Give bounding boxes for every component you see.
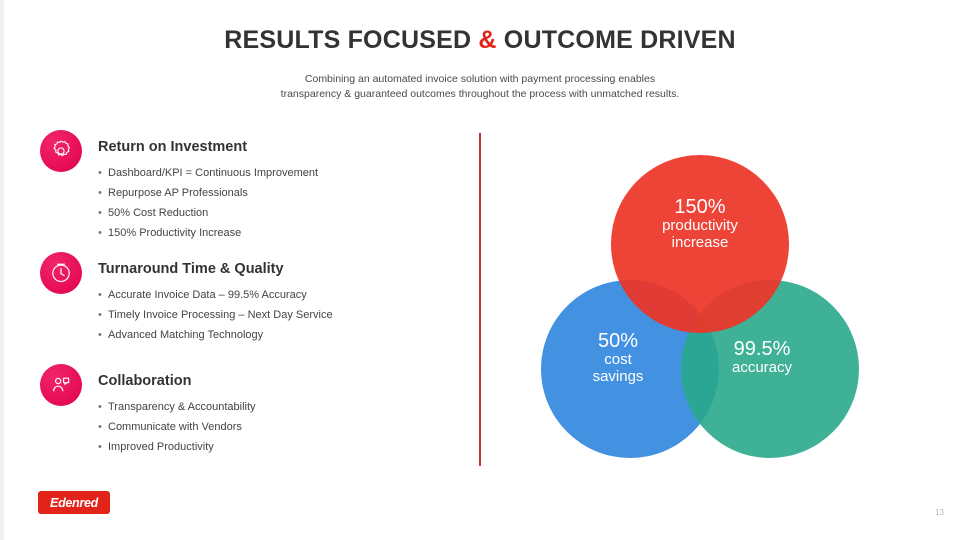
bullet-item: •Improved Productivity — [98, 437, 256, 457]
subtitle: Combining an automated invoice solution … — [180, 72, 780, 102]
bullet-text: Dashboard/KPI = Continuous Improvement — [108, 167, 318, 179]
bullet-item: •Dashboard/KPI = Continuous Improvement — [98, 163, 318, 183]
section-heading: Turnaround Time & Quality — [98, 261, 284, 277]
venn-value: 50% — [556, 330, 680, 352]
bullet-item: •50% Cost Reduction — [98, 203, 318, 223]
venn-label-productivity: 150% productivity increase — [638, 196, 762, 252]
bullet-dot: • — [98, 397, 108, 417]
bullet-dot: • — [98, 203, 108, 223]
subtitle-line-1: Combining an automated invoice solution … — [180, 72, 780, 87]
venn-value: 99.5% — [700, 338, 824, 360]
venn-caption-line-1: cost — [556, 352, 680, 369]
section-heading: Return on Investment — [98, 139, 247, 155]
bullet-dot: • — [98, 183, 108, 203]
bullet-text: Improved Productivity — [108, 441, 214, 453]
title-part-2: OUTCOME DRIVEN — [504, 26, 736, 54]
venn-caption-line-2: increase — [638, 235, 762, 252]
bullet-text: Advanced Matching Technology — [108, 329, 263, 341]
page-number: 13 — [935, 508, 944, 517]
bullet-text: Repurpose AP Professionals — [108, 187, 248, 199]
bullet-item: •Timely Invoice Processing – Next Day Se… — [98, 305, 333, 325]
section-turnaround-time-quality: Turnaround Time & Quality •Accurate Invo… — [40, 252, 460, 352]
clock-icon — [40, 252, 82, 294]
bullet-dot: • — [98, 223, 108, 243]
left-edge-bar — [0, 0, 7, 540]
page-title: RESULTS FOCUSED & OUTCOME DRIVEN — [0, 26, 960, 55]
section-bullets: •Transparency & Accountability •Communic… — [98, 397, 256, 457]
section-heading: Collaboration — [98, 373, 191, 389]
bullet-text: Transparency & Accountability — [108, 401, 256, 413]
venn-value: 150% — [638, 196, 762, 218]
venn-caption-line-1: accuracy — [700, 360, 824, 377]
bullet-text: Timely Invoice Processing – Next Day Ser… — [108, 309, 333, 321]
bullet-item: •Repurpose AP Professionals — [98, 183, 318, 203]
bullet-item: •150% Productivity Increase — [98, 223, 318, 243]
logo-text: Edenred — [50, 496, 98, 510]
bullet-dot: • — [98, 417, 108, 437]
bullet-dot: • — [98, 305, 108, 325]
venn-caption-line-1: productivity — [638, 218, 762, 235]
section-collaboration: Collaboration •Transparency & Accountabi… — [40, 364, 460, 464]
title-part-1: RESULTS FOCUSED — [224, 26, 471, 54]
bullet-item: •Transparency & Accountability — [98, 397, 256, 417]
edenred-logo: Edenred — [38, 491, 110, 514]
bullet-item: •Accurate Invoice Data – 99.5% Accuracy — [98, 285, 333, 305]
bullet-dot: • — [98, 325, 108, 345]
bullet-text: Accurate Invoice Data – 99.5% Accuracy — [108, 289, 307, 301]
subtitle-line-2: transparency & guaranteed outcomes throu… — [180, 87, 780, 102]
venn-caption-line-2: savings — [556, 369, 680, 386]
venn-label-accuracy: 99.5% accuracy — [700, 338, 824, 377]
venn-label-cost-savings: 50% cost savings — [556, 330, 680, 386]
section-bullets: •Dashboard/KPI = Continuous Improvement … — [98, 163, 318, 243]
section-return-on-investment: Return on Investment •Dashboard/KPI = Co… — [40, 130, 460, 245]
vertical-divider — [479, 133, 481, 466]
bullet-item: •Advanced Matching Technology — [98, 325, 333, 345]
section-bullets: •Accurate Invoice Data – 99.5% Accuracy … — [98, 285, 333, 345]
title-ampersand: & — [478, 26, 496, 54]
bullet-text: 50% Cost Reduction — [108, 207, 208, 219]
gear-rosette-icon — [40, 130, 82, 172]
bullet-text: 150% Productivity Increase — [108, 227, 241, 239]
slide: RESULTS FOCUSED & OUTCOME DRIVEN Combini… — [0, 0, 960, 540]
bullet-dot: • — [98, 437, 108, 457]
bullet-item: •Communicate with Vendors — [98, 417, 256, 437]
bullet-dot: • — [98, 163, 108, 183]
bullet-text: Communicate with Vendors — [108, 421, 242, 433]
bullet-dot: • — [98, 285, 108, 305]
handshake-people-icon — [40, 364, 82, 406]
